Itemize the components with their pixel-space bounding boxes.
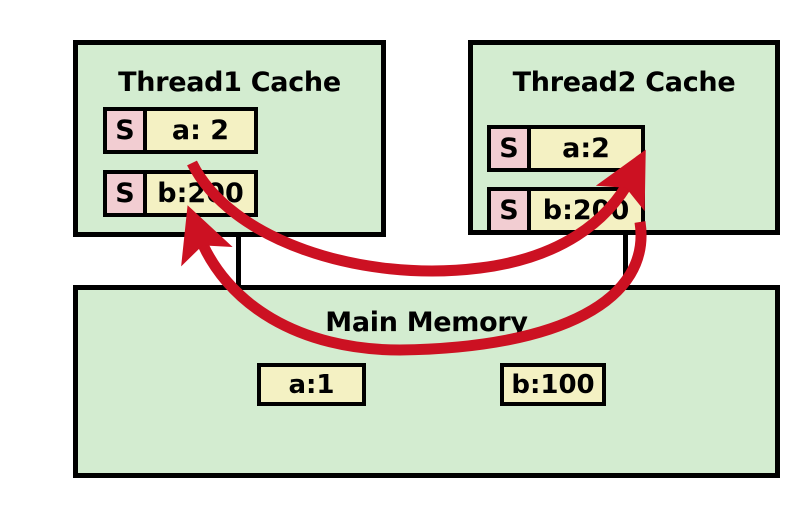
main-memory-panel: Main Memory a:1 b:100 (73, 285, 780, 478)
thread2-cache-line-a-value: a:2 (531, 129, 641, 168)
thread1-cache-line-b: S b:200 (103, 170, 258, 217)
thread2-memory-connector (623, 235, 628, 285)
thread2-cache-line-b: S b:200 (487, 187, 645, 234)
thread1-cache-panel: Thread1 Cache S a: 2 S b:200 (73, 40, 386, 237)
thread2-cache-title: Thread2 Cache (473, 67, 775, 98)
thread1-cache-line-a-value: a: 2 (147, 111, 254, 150)
thread1-cache-title: Thread1 Cache (78, 67, 381, 98)
thread1-cache-line-a-state: S (107, 111, 147, 150)
thread2-cache-line-b-state: S (491, 191, 531, 230)
thread2-cache-panel: Thread2 Cache S a:2 S b:200 (468, 40, 780, 235)
thread1-cache-line-a: S a: 2 (103, 107, 258, 154)
thread2-cache-line-a: S a:2 (487, 125, 645, 172)
main-memory-entry-b: b:100 (500, 363, 606, 406)
main-memory-entry-a: a:1 (257, 363, 366, 406)
thread2-cache-line-a-state: S (491, 129, 531, 168)
diagram-canvas: Thread1 Cache S a: 2 S b:200 Thread2 Cac… (0, 0, 798, 517)
thread2-cache-line-b-value: b:200 (531, 191, 641, 230)
thread1-memory-connector (236, 237, 241, 285)
main-memory-title: Main Memory (78, 307, 775, 338)
thread1-cache-line-b-state: S (107, 174, 147, 213)
thread1-cache-line-b-value: b:200 (147, 174, 254, 213)
